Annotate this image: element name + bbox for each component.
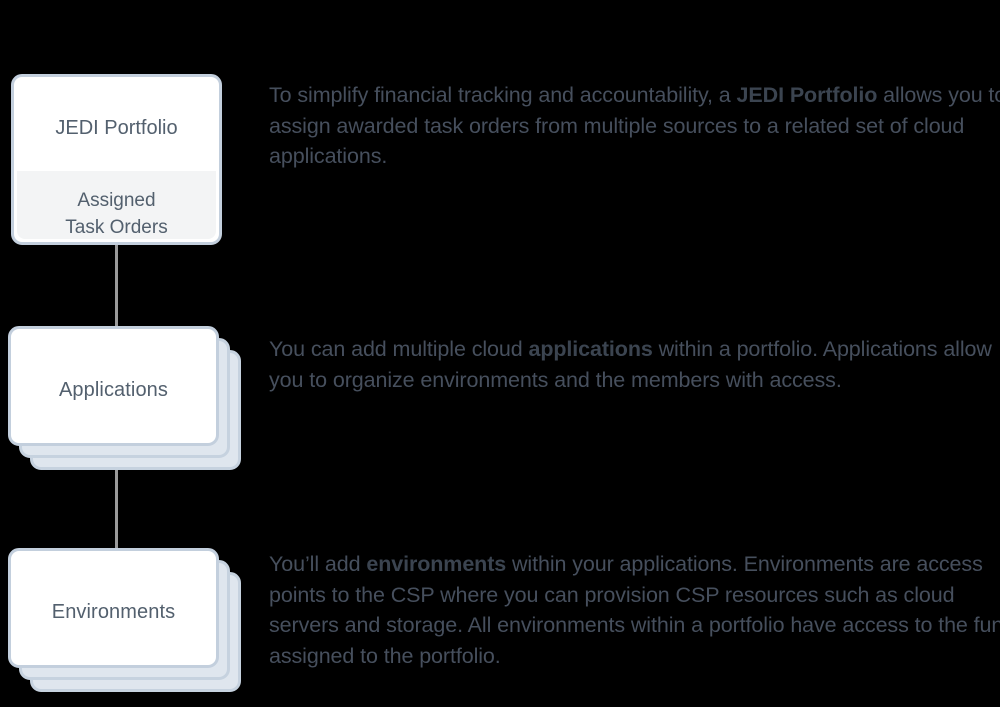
environments-description: You’ll add environments within your appl… bbox=[269, 549, 1000, 671]
connector-applications-to-environments bbox=[115, 465, 118, 550]
environments-card: Environments bbox=[8, 548, 219, 668]
applications-description: You can add multiple cloud applications … bbox=[269, 334, 1000, 395]
portfolio-description-emphasis: JEDI Portfolio bbox=[737, 83, 878, 107]
node-applications: Applications bbox=[8, 326, 240, 471]
applications-description-emphasis: applications bbox=[528, 337, 652, 361]
jedi-portfolio-label: JEDI Portfolio bbox=[14, 117, 219, 140]
applications-label: Applications bbox=[11, 379, 216, 402]
jedi-portfolio-card: JEDI Portfolio Assigned Task Orders bbox=[11, 74, 222, 245]
environments-label: Environments bbox=[11, 601, 216, 624]
portfolio-description-part-1: To simplify financial tracking and accou… bbox=[269, 83, 737, 107]
assigned-task-orders-label: Assigned Task Orders bbox=[14, 187, 219, 241]
node-jedi-portfolio: JEDI Portfolio Assigned Task Orders bbox=[11, 74, 222, 245]
assigned-task-orders-line-1: Assigned bbox=[14, 187, 219, 214]
portfolio-hierarchy-diagram: JEDI Portfolio Assigned Task Orders Appl… bbox=[0, 0, 1000, 707]
environments-description-part-1: You’ll add bbox=[269, 552, 366, 576]
portfolio-description: To simplify financial tracking and accou… bbox=[269, 80, 1000, 172]
applications-card: Applications bbox=[8, 326, 219, 446]
node-environments: Environments bbox=[8, 548, 240, 693]
environments-description-emphasis: environments bbox=[366, 552, 506, 576]
assigned-task-orders-line-2: Task Orders bbox=[14, 214, 219, 241]
connector-portfolio-to-applications bbox=[115, 245, 118, 327]
applications-description-part-1: You can add multiple cloud bbox=[269, 337, 528, 361]
